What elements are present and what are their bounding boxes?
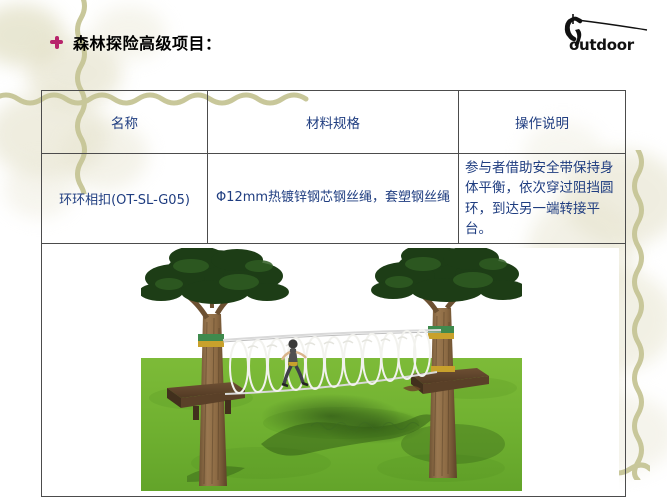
cell-material: Φ12mm热镀锌钢芯钢丝绳，套塑钢丝绳 [208,154,459,244]
ropes-course-illustration [141,248,522,491]
table-header-row: 名称 材料规格 操作说明 [42,91,626,154]
logo-wordmark: outdoor [569,36,634,54]
cell-name: 环环相扣(OT-SL-G05) [42,154,208,244]
cell-operation: 参与者借助安全带保持身体平衡，依次穿过阻挡圆环，到达另一端转接平台。 [459,154,626,244]
specification-table: 名称 材料规格 操作说明 环环相扣(OT-SL-G05) Φ12mm热镀锌钢芯钢… [41,90,626,497]
diamond-bullet-icon [50,36,63,49]
page-title: 森林探险高级项目： [50,30,222,54]
table-row: 环环相扣(OT-SL-G05) Φ12mm热镀锌钢芯钢丝绳，套塑钢丝绳 参与者借… [42,154,626,244]
column-header-name: 名称 [42,91,208,154]
table-figure-row [42,244,626,497]
brand-logo: outdoor [555,8,651,54]
column-header-material: 材料规格 [208,91,459,154]
cell-illustration [42,244,626,497]
illustration-wrapper [48,248,619,492]
page-title-text: 森林探险高级项目： [73,30,222,54]
bamboo-stem-icon [625,150,651,480]
column-header-operation: 操作说明 [459,91,626,154]
